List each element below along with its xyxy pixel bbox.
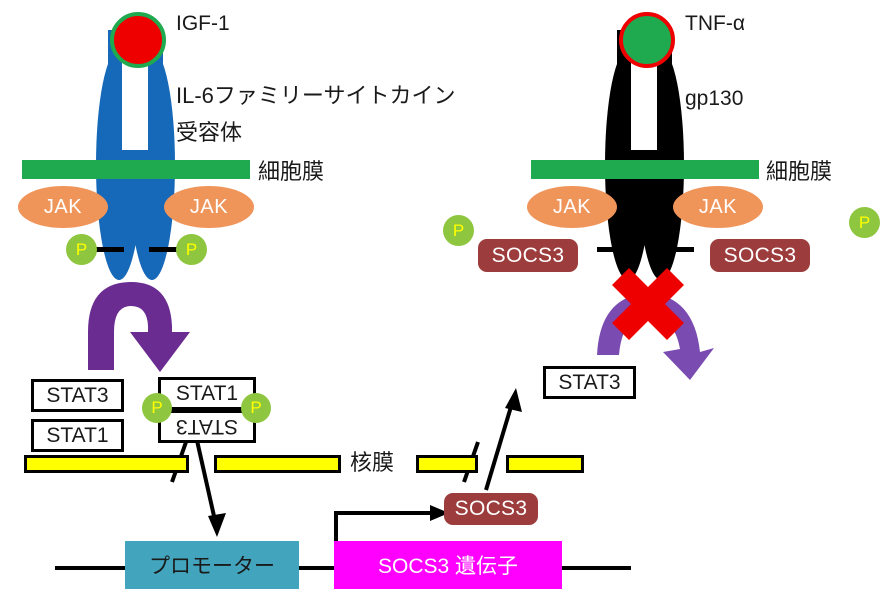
nuclear-membrane-bar-2	[214, 455, 341, 473]
left-phospho-left: P	[66, 234, 97, 265]
socs3-nuclear-product: SOCS3	[444, 493, 538, 525]
nuclear-membrane-bar-1	[24, 455, 189, 473]
stat3-monomer-box: STAT3	[31, 379, 124, 412]
il6-receptor-label-line2: 受容体	[176, 122, 242, 144]
tnf-alpha-label: TNF-α	[685, 13, 745, 34]
stat3-released-box: STAT3	[543, 366, 636, 399]
left-jak-left: JAK	[18, 186, 108, 228]
socs3-membrane-left: SOCS3	[478, 239, 578, 272]
igf1-ligand-icon	[110, 12, 166, 68]
nuclear-membrane-label: 核膜	[350, 452, 394, 474]
left-translocation-arrow	[88, 282, 190, 372]
dimer-phospho-left: P	[142, 393, 172, 423]
igf1-label: IGF-1	[176, 13, 230, 34]
promoter-box: プロモーター	[125, 541, 299, 589]
free-phospho-left: P	[443, 215, 474, 246]
nuclear-entry-arrow	[196, 436, 226, 537]
left-membrane-label: 細胞膜	[258, 161, 324, 183]
socs3-export-arrow	[486, 388, 522, 490]
tnf-alpha-ligand-icon	[619, 12, 675, 68]
nuclear-membrane-bar-3	[416, 455, 478, 473]
left-phospho-right: P	[176, 234, 207, 265]
right-phospho-stem-right	[658, 247, 694, 252]
right-jak-left: JAK	[527, 186, 617, 228]
socs3-gene-box: SOCS3 遺伝子	[334, 541, 562, 589]
right-jak-right: JAK	[673, 186, 763, 228]
blocked-x-icon	[612, 268, 684, 340]
left-cell-membrane	[22, 160, 250, 179]
left-jak-right: JAK	[164, 186, 254, 228]
dimer-phospho-right: P	[241, 393, 271, 423]
right-phospho-stem-left	[597, 247, 633, 252]
free-phospho-right: P	[849, 207, 880, 238]
pathway-diagram: IGF-1 IL-6ファミリーサイトカイン 受容体 細胞膜 JAK JAK P …	[0, 0, 886, 597]
il6-receptor-label-line1: IL-6ファミリーサイトカイン	[176, 85, 455, 107]
gene-to-socs3-arrow	[336, 505, 449, 545]
dna-strand-right	[555, 566, 631, 570]
stat1-monomer-box: STAT1	[31, 419, 124, 452]
gp130-label: gp130	[685, 88, 743, 109]
dna-strand-left	[55, 566, 133, 570]
right-membrane-label: 細胞膜	[766, 161, 832, 183]
right-cell-membrane	[531, 160, 759, 179]
stat-dimer-bottom-box: STAT3	[158, 410, 256, 443]
socs3-membrane-right: SOCS3	[710, 239, 810, 272]
nuclear-membrane-bar-4	[506, 455, 584, 473]
